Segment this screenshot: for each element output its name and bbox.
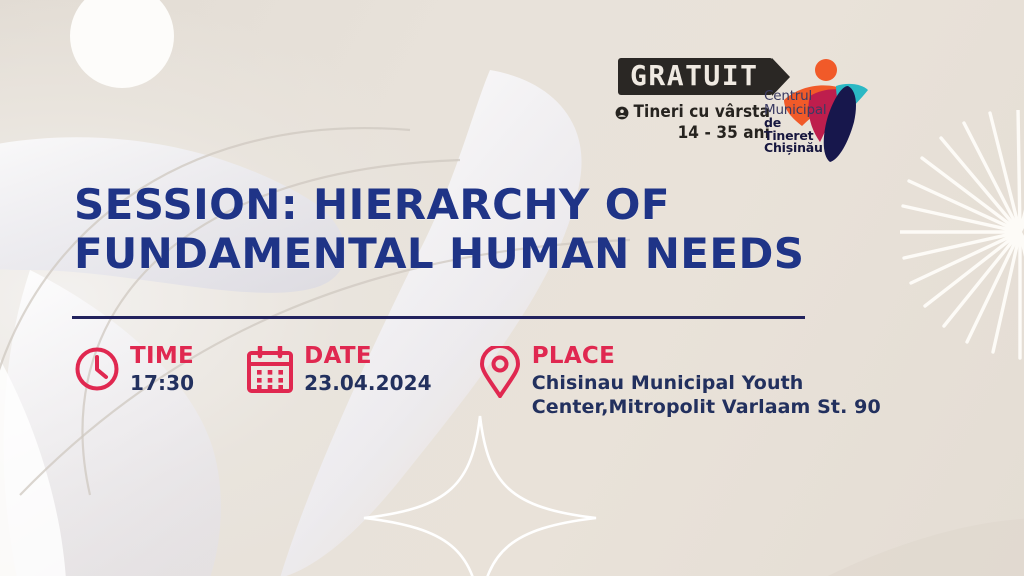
cmt-line-3: de Tineret	[764, 117, 834, 142]
divider	[72, 316, 805, 319]
title-line-2: FUNDAMENTAL HUMAN NEEDS	[74, 229, 874, 278]
audience-line-2: 14 - 35 ani	[618, 123, 770, 144]
audience-text-2: 14 - 35 ani	[678, 123, 770, 144]
audience-line-1: Tineri cu vârsta	[618, 102, 770, 123]
detail-date: DATE 23.04.2024	[246, 344, 432, 395]
audience-text-1: Tineri cu vârsta	[634, 102, 771, 123]
place-label: PLACE	[532, 344, 881, 368]
cmt-line-4: Chișinău	[764, 142, 834, 155]
clock-icon	[74, 346, 120, 392]
date-label: DATE	[304, 344, 432, 368]
gratuit-label: GRATUIT	[630, 59, 759, 92]
time-label: TIME	[130, 344, 194, 368]
cmt-logo-wordmark: Centrul Municipal de Tineret Chișinău	[764, 90, 834, 155]
person-icon	[615, 106, 629, 120]
calendar-icon	[246, 346, 294, 394]
background-figure-shape	[0, 0, 500, 576]
event-details: TIME 17:30 DATE 23.04.2024	[74, 344, 881, 420]
title-line-1: SESSION: HIERARCHY OF	[74, 180, 670, 229]
place-value-2: Center,Mitropolit Varlaam St. 90	[532, 395, 881, 419]
free-badge-block: GRATUIT Tineri cu vârsta 14 - 35 ani	[618, 58, 770, 145]
gratuit-badge: GRATUIT	[618, 58, 773, 95]
event-poster: GRATUIT Tineri cu vârsta 14 - 35 ani	[0, 0, 1024, 576]
location-pin-icon	[478, 346, 522, 398]
audience-block: Tineri cu vârsta 14 - 35 ani	[618, 102, 770, 145]
bottom-right-shade	[820, 400, 1024, 576]
detail-time: TIME 17:30	[74, 344, 194, 395]
time-value: 17:30	[130, 371, 194, 395]
time-text: TIME 17:30	[130, 344, 194, 395]
sunburst-icon	[900, 110, 1024, 360]
cmt-logo: Centrul Municipal de Tineret Chișinău	[762, 56, 874, 166]
sparkle-star-icon	[360, 412, 600, 576]
date-value: 23.04.2024	[304, 371, 432, 395]
detail-place: PLACE Chisinau Municipal Youth Center,Mi…	[478, 344, 881, 420]
place-text: PLACE Chisinau Municipal Youth Center,Mi…	[532, 344, 881, 420]
date-text: DATE 23.04.2024	[304, 344, 432, 395]
place-value-1: Chisinau Municipal Youth	[532, 371, 881, 395]
page-title: SESSION: HIERARCHY OF FUNDAMENTAL HUMAN …	[74, 180, 874, 278]
head-circle-shape	[60, 0, 190, 102]
